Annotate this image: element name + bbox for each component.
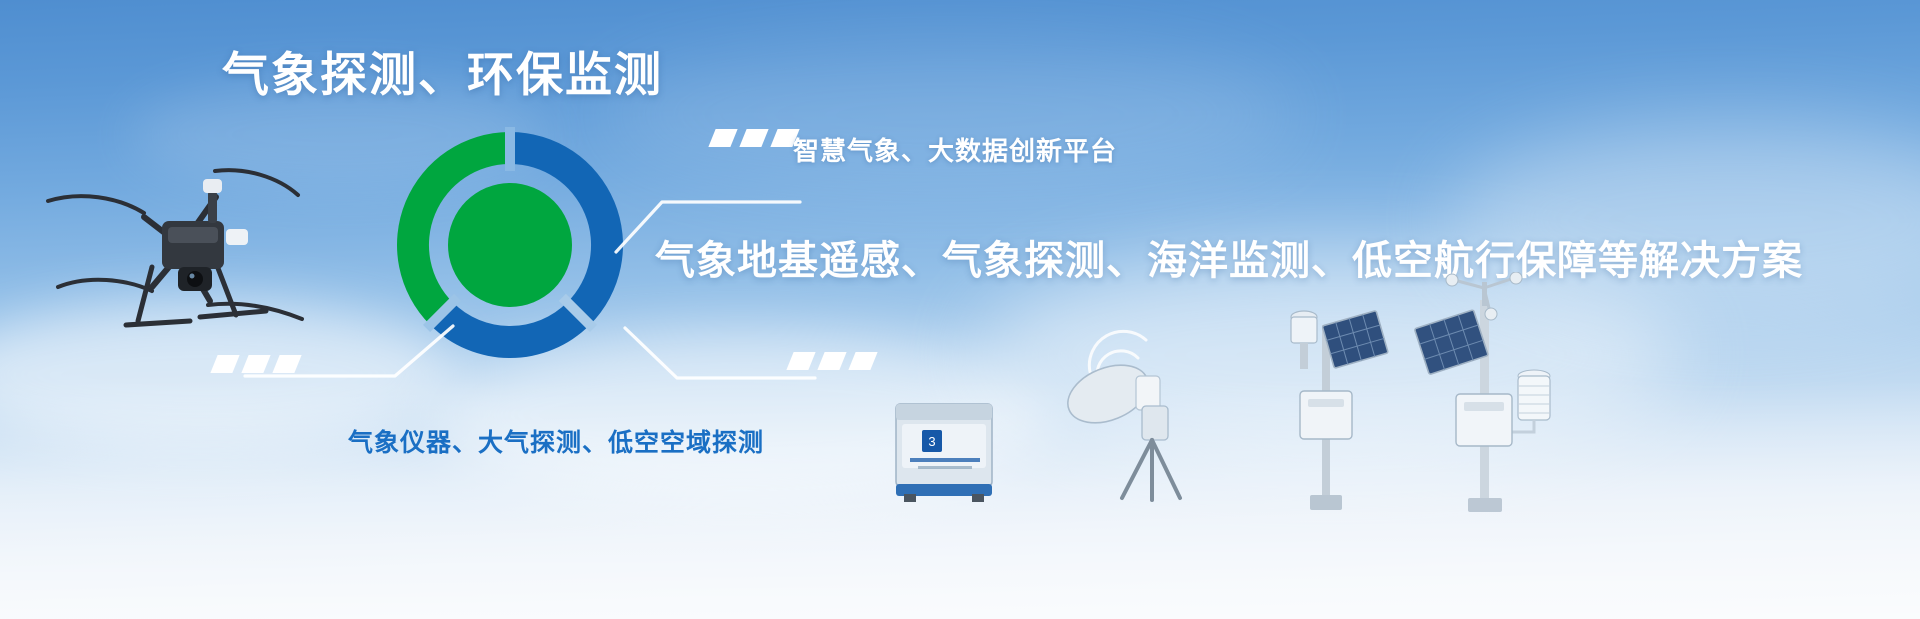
solar-weather-station	[1270, 295, 1390, 510]
satellite-dish-tripod	[1060, 320, 1200, 505]
drone-antenna	[208, 191, 217, 223]
dash-marks-bottom-right	[790, 352, 874, 370]
solar-anemometer-station	[1410, 272, 1560, 512]
dash-mark	[817, 352, 846, 370]
feature-label-main: 气象地基遥感、气象探测、海洋监测、低空航行保障等解决方案	[655, 228, 1803, 286]
dash-mark	[708, 129, 737, 147]
ring-segment-blue-2	[430, 302, 590, 358]
svg-text:3: 3	[928, 434, 935, 449]
station-enclosure	[1300, 391, 1352, 439]
quadcopter-drone	[40, 155, 320, 340]
dash-marks-top	[712, 129, 796, 147]
station2-base	[1468, 498, 1502, 512]
station-base	[1310, 495, 1342, 510]
station2-enclosure	[1456, 394, 1512, 446]
dash-marks-bottom-left	[214, 355, 298, 373]
feature-label-bottom: 气象仪器、大气探测、低空空域探测	[348, 423, 764, 459]
banner-title: 气象探测、环保监测	[222, 51, 663, 98]
laser-radar-cabinet: 3	[890, 390, 1000, 502]
dish-feed	[1136, 376, 1160, 410]
dash-mark	[848, 352, 877, 370]
dash-mark	[786, 352, 815, 370]
cabinet-caption	[910, 458, 980, 462]
dash-mark	[241, 355, 270, 373]
dash-mark	[272, 355, 301, 373]
solar-panel-2	[1414, 310, 1488, 375]
solar-panel	[1322, 311, 1388, 369]
dash-mark	[210, 355, 239, 373]
ring-donut-graphic	[383, 118, 637, 372]
drone-payload	[226, 229, 248, 245]
ring-inner-disc	[448, 183, 572, 307]
connector-line-bottom-right	[615, 320, 835, 420]
banner-root: 气象探测、环保监测 智慧气象、大数据创新平台	[0, 0, 1920, 619]
feature-label-top: 智慧气象、大数据创新平台	[793, 131, 1117, 168]
dash-mark	[739, 129, 768, 147]
